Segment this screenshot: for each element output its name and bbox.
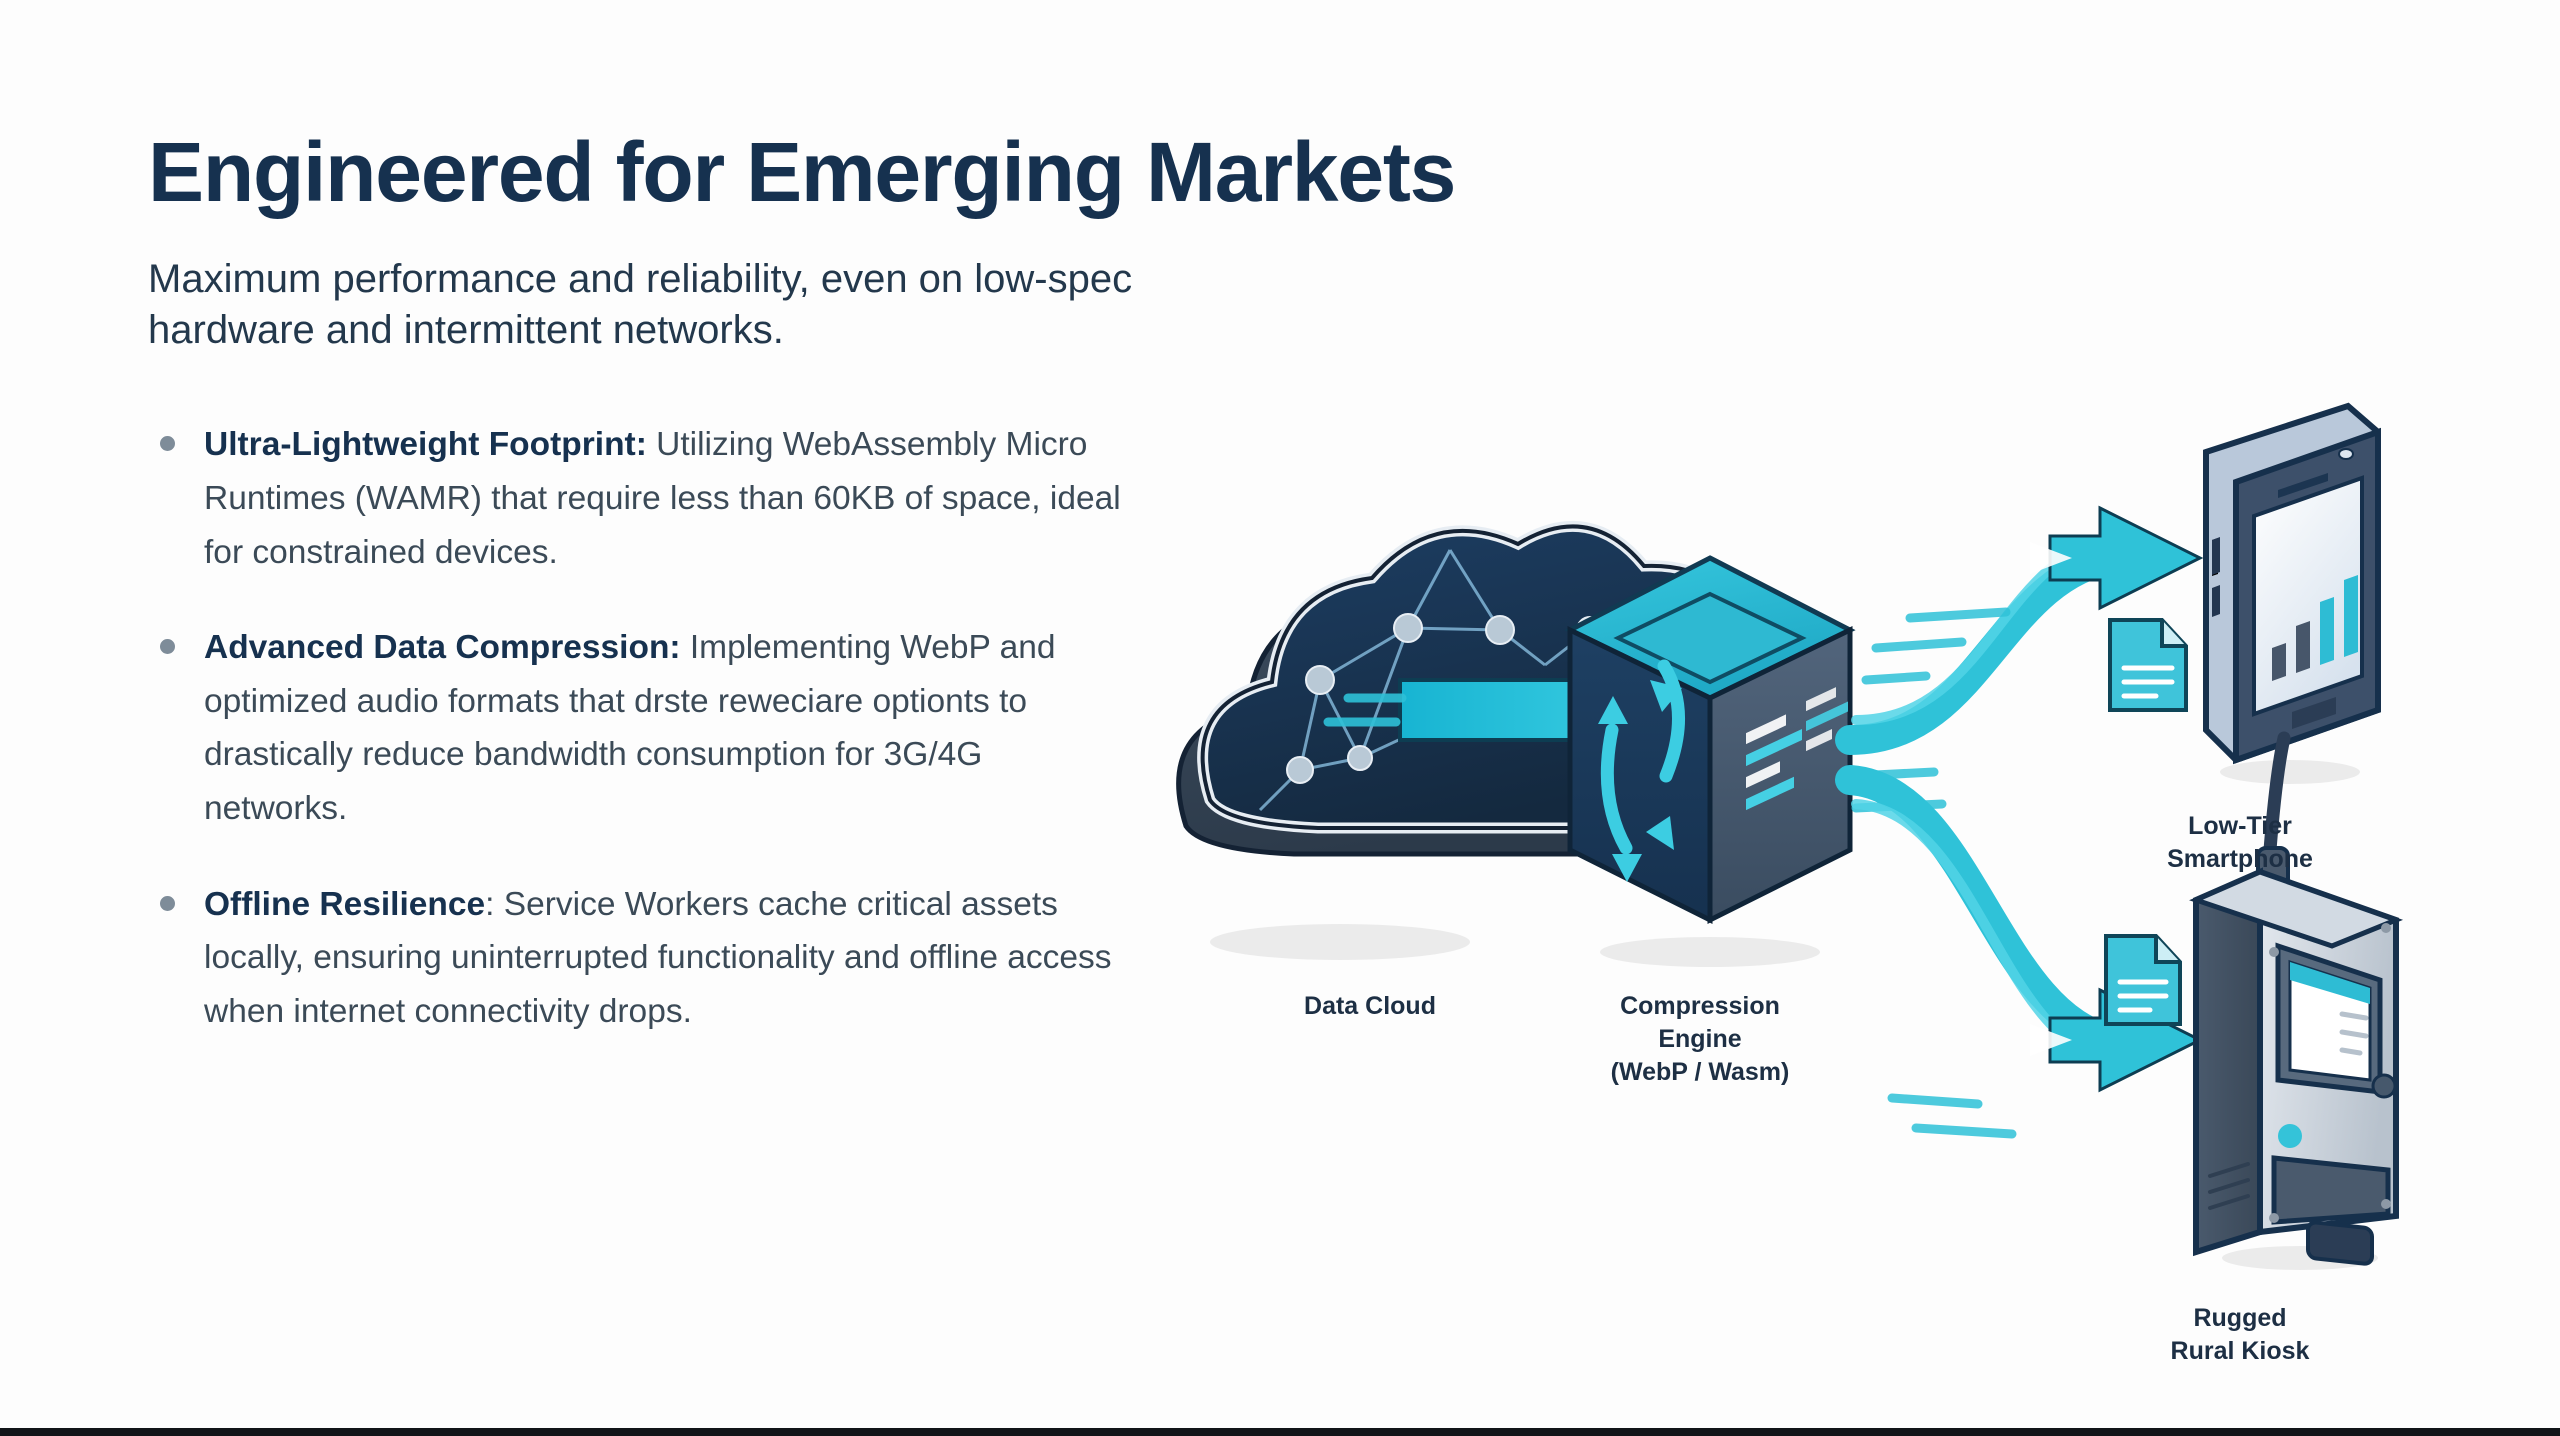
architecture-diagram: Data Cloud Compression Engine (WebP / Wa… — [1150, 380, 2530, 1310]
diagram-label-kiosk: Rugged Rural Kiosk — [2080, 1302, 2400, 1368]
list-item: Advanced Data Compression: Implementing … — [148, 621, 1124, 835]
diagram-label-engine: Compression Engine (WebP / Wasm) — [1520, 990, 1880, 1089]
list-item: Ultra-Lightweight Footprint: Utilizing W… — [148, 418, 1124, 579]
diagram-label-kiosk-line1: Rugged — [2080, 1302, 2400, 1335]
page-title: Engineered for Emerging Markets — [148, 130, 1148, 214]
list-item-text: Offline Resilience: Service Workers cach… — [204, 878, 1124, 1039]
compression-cube-icon — [1570, 558, 1850, 920]
bullet-dot-icon — [160, 436, 175, 451]
bullet-dot-icon — [160, 639, 175, 654]
content-column: Engineered for Emerging Markets Maximum … — [148, 130, 1148, 1080]
list-item: Offline Resilience: Service Workers cach… — [148, 878, 1124, 1039]
diagram-label-kiosk-line2: Rural Kiosk — [2080, 1335, 2400, 1368]
diagram-label-smartphone: Low-Tier Smartphone — [2080, 810, 2400, 876]
document-icon — [2106, 936, 2180, 1024]
slide-root: Engineered for Emerging Markets Maximum … — [0, 0, 2560, 1436]
cloud-shadow — [1210, 924, 1470, 960]
list-item-lead: Offline Resilience — [204, 886, 485, 923]
document-icon — [2110, 620, 2186, 710]
diagram-label-phone-line2: Smartphone — [2080, 843, 2400, 876]
diagram-label-engine-line3: (WebP / Wasm) — [1520, 1056, 1880, 1089]
diagram-label-cloud: Data Cloud — [1220, 990, 1520, 1023]
diagram-label-cloud-text: Data Cloud — [1304, 992, 1436, 1020]
engine-shadow — [1600, 937, 1820, 967]
list-item-text: Ultra-Lightweight Footprint: Utilizing W… — [204, 418, 1124, 579]
feature-list: Ultra-Lightweight Footprint: Utilizing W… — [148, 418, 1148, 1038]
diagram-label-engine-line1: Compression — [1520, 990, 1880, 1023]
diagram-label-engine-line2: Engine — [1520, 1023, 1880, 1056]
smartphone-icon — [2206, 406, 2378, 784]
bullet-dot-icon — [160, 896, 175, 911]
bottom-bar — [0, 1428, 2560, 1436]
diagram-label-phone-line1: Low-Tier — [2080, 810, 2400, 843]
list-item-lead: Advanced Data Compression: — [204, 629, 681, 666]
speed-lines — [1892, 1098, 2012, 1134]
page-subtitle: Maximum performance and reliability, eve… — [148, 254, 1148, 356]
list-item-lead: Ultra-Lightweight Footprint: — [204, 426, 647, 463]
list-item-text: Advanced Data Compression: Implementing … — [204, 621, 1124, 835]
